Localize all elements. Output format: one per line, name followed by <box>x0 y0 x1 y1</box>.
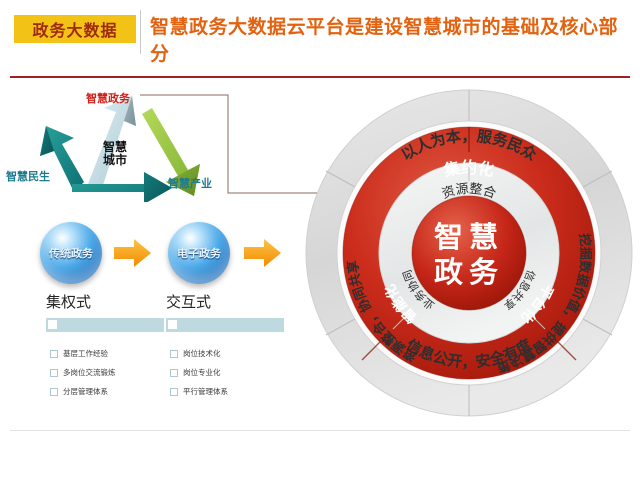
checkbox-label: 岗位专业化 <box>183 367 221 378</box>
wheel-center-line1: 智慧 <box>434 220 504 254</box>
checkbox-row[interactable]: 基层工作经验 <box>50 348 108 359</box>
bar-knob <box>48 320 57 329</box>
header-rule <box>10 76 630 78</box>
flow-arrow-1 <box>114 238 152 268</box>
checkbox-label: 平行管理体系 <box>183 386 228 397</box>
checkbox-label: 岗位技术化 <box>183 348 221 359</box>
checkbox-icon[interactable] <box>50 369 58 377</box>
header-separator <box>140 10 141 54</box>
page-title: 智慧政务大数据云平台是建设智慧城市的基础及核心部分 <box>150 14 630 68</box>
checkbox-row[interactable]: 多岗位交流锻炼 <box>50 367 116 378</box>
recycle-center-line2: 城市 <box>95 154 135 167</box>
header-badge: 政务大数据 <box>14 15 136 43</box>
flow-stage-traditional: 传统政务 <box>40 222 102 284</box>
checkbox-icon[interactable] <box>50 388 58 396</box>
checkbox-label: 分层管理体系 <box>63 386 108 397</box>
column-title-interactive: 交互式 <box>166 291 211 312</box>
checkbox-icon[interactable] <box>170 369 178 377</box>
flow-arrow-2 <box>244 238 282 268</box>
checkbox-label: 多岗位交流锻炼 <box>63 367 116 378</box>
column-bar-centralized <box>46 318 164 332</box>
checkbox-row[interactable]: 平行管理体系 <box>170 386 228 397</box>
checkbox-row[interactable]: 岗位技术化 <box>170 348 221 359</box>
flow-stage-egov: 电子政务 <box>168 222 230 284</box>
checkbox-row[interactable]: 分层管理体系 <box>50 386 108 397</box>
slide-canvas: 政务大数据 智慧政务大数据云平台是建设智慧城市的基础及核心部分 <box>0 0 640 480</box>
checkbox-label: 基层工作经验 <box>63 348 108 359</box>
recycle-label-left: 智慧民生 <box>6 168 50 184</box>
wheel-red-label-top: 集约化 <box>441 158 495 180</box>
recycle-label-center: 智慧 城市 <box>95 141 135 168</box>
concentric-wheel-diagram: 以人为本，服务民众 信息公开，安全有度 资源整合，协同共享 挖掘数据价值，提供智… <box>302 86 636 420</box>
footer-rule <box>10 430 630 431</box>
checkbox-row[interactable]: 岗位专业化 <box>170 367 221 378</box>
column-title-centralized: 集权式 <box>46 291 91 312</box>
wheel-center-line2: 政务 <box>434 255 504 289</box>
flow-stage-label: 电子政务 <box>177 245 221 261</box>
bar-knob <box>168 320 177 329</box>
flow-stage-label: 传统政务 <box>49 245 93 261</box>
checkbox-icon[interactable] <box>170 350 178 358</box>
checkbox-icon[interactable] <box>50 350 58 358</box>
column-bar-interactive <box>166 318 284 332</box>
checkbox-icon[interactable] <box>170 388 178 396</box>
recycle-label-right: 智慧产业 <box>168 175 212 191</box>
recycle-label-top: 智慧政务 <box>86 90 130 106</box>
recycle-triangle-diagram <box>28 92 258 202</box>
